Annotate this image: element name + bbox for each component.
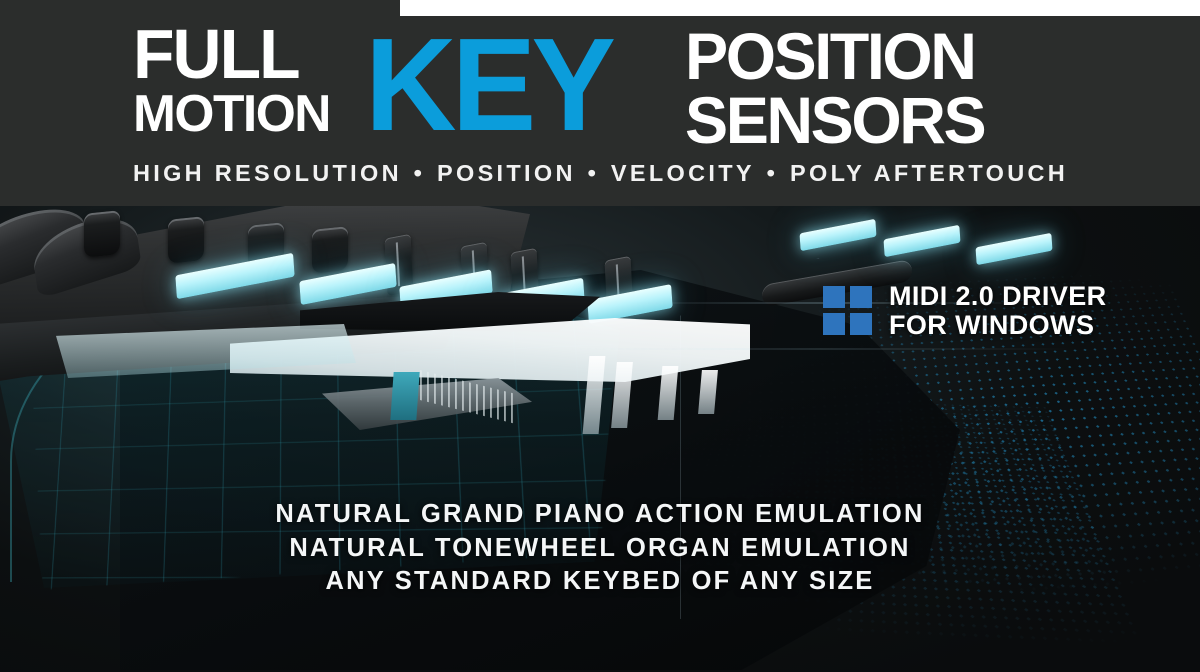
headline: FULL MOTION KEY POSITION SENSORS (133, 22, 1073, 150)
rotary-knob (312, 226, 348, 274)
badge-line-platform: FOR WINDOWS (889, 311, 1107, 340)
headline-word-sensors: SENSORS (685, 89, 984, 151)
headline-word-position: POSITION (685, 25, 984, 87)
illuminated-pad (799, 219, 876, 251)
sensor-component (390, 372, 419, 420)
windows-pane (850, 286, 872, 308)
light-streak (560, 348, 1080, 350)
headline-word-key: KEY (365, 19, 611, 151)
illuminated-pad (975, 233, 1052, 265)
headline-right-column: POSITION SENSORS (685, 25, 990, 151)
rotary-knob (84, 210, 120, 258)
feature-line: ANY STANDARD KEYBED OF ANY SIZE (0, 565, 1200, 599)
badge-line-driver: MIDI 2.0 DRIVER (889, 282, 1107, 311)
headline-word-motion: MOTION (133, 88, 369, 140)
badge-text: MIDI 2.0 DRIVER FOR WINDOWS (889, 282, 1107, 339)
rotary-knob (168, 216, 204, 264)
feature-list: NATURAL GRAND PIANO ACTION EMULATION NAT… (0, 498, 1200, 599)
subheadline-separator: • (755, 160, 790, 186)
windows-pane (823, 286, 845, 308)
headline-word-full: FULL (133, 22, 364, 86)
subheadline-item: POSITION (437, 160, 576, 186)
subheadline: HIGH RESOLUTION • POSITION • VELOCITY • … (133, 160, 1073, 187)
subheadline-separator: • (402, 160, 437, 186)
windows-pane (850, 313, 872, 335)
product-artwork: NATURAL GRAND PIANO ACTION EMULATION NAT… (0, 206, 1200, 672)
feature-line: NATURAL GRAND PIANO ACTION EMULATION (0, 498, 1200, 532)
subheadline-item: HIGH RESOLUTION (133, 160, 402, 186)
subheadline-separator: • (576, 160, 611, 186)
midi-windows-badge: MIDI 2.0 DRIVER FOR WINDOWS (823, 282, 1107, 339)
subheadline-item: POLY AFTERTOUCH (790, 160, 1068, 186)
windows-pane (823, 313, 845, 335)
headline-left-column: FULL MOTION (133, 22, 371, 140)
illuminated-pad (883, 225, 960, 257)
feature-line: NATURAL TONEWHEEL ORGAN EMULATION (0, 532, 1200, 566)
windows-logo-icon (823, 286, 872, 335)
product-banner: NATURAL GRAND PIANO ACTION EMULATION NAT… (0, 0, 1200, 672)
subheadline-item: VELOCITY (611, 160, 755, 186)
